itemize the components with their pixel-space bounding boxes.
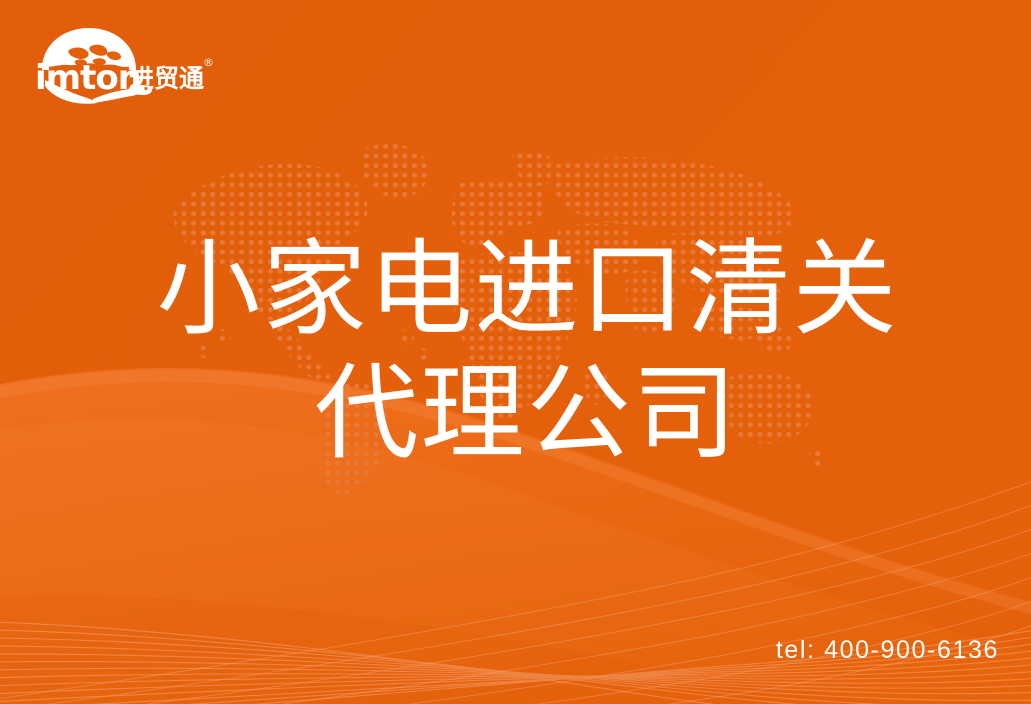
contact-telephone[interactable]: tel: 400-900-6136 <box>776 636 999 665</box>
page-title-line-2: 代理公司 <box>22 352 1031 476</box>
page-title-line-1: 小家电进口清关 <box>24 228 1031 352</box>
registered-trademark-icon: ® <box>203 56 213 69</box>
page-title: 小家电进口清关 代理公司 <box>0 228 1031 476</box>
promo-banner: imton 进贸通 ® 小家电进口清关 代理公司 tel: 400-900-61… <box>0 0 1031 704</box>
imton-logo[interactable]: imton 进贸通 ® <box>33 26 213 104</box>
